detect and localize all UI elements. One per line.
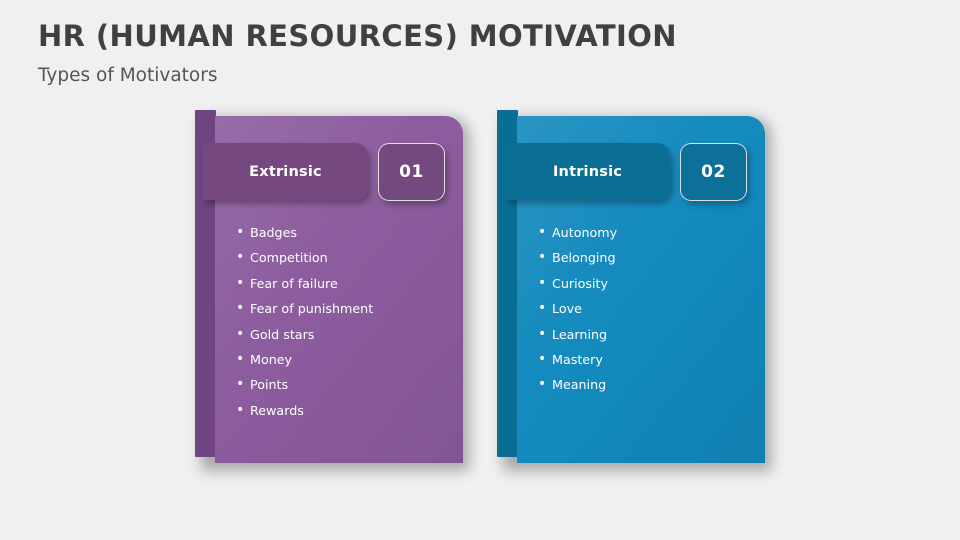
bullet-icon: • <box>236 247 250 268</box>
list-item: •Gold stars <box>236 324 436 349</box>
bullet-icon: • <box>236 273 250 294</box>
card-title-label: Extrinsic <box>249 164 322 180</box>
bullet-icon: • <box>538 222 552 243</box>
list-item-label: Mastery <box>552 349 603 370</box>
list-item-label: Love <box>552 298 582 319</box>
bullet-icon: • <box>236 374 250 395</box>
list-item-label: Rewards <box>250 400 304 421</box>
bullet-icon: • <box>236 349 250 370</box>
list-item-label: Points <box>250 374 288 395</box>
list-item-label: Fear of punishment <box>250 298 373 319</box>
list-item-label: Learning <box>552 324 607 345</box>
card-title-label: Intrinsic <box>553 164 622 180</box>
list-item: •Meaning <box>538 374 738 399</box>
bullet-icon: • <box>236 222 250 243</box>
list-item-label: Autonomy <box>552 222 617 243</box>
list-item: •Love <box>538 298 738 323</box>
list-item-label: Belonging <box>552 247 616 268</box>
list-item: •Learning <box>538 324 738 349</box>
list-item-label: Gold stars <box>250 324 314 345</box>
list-item: •Points <box>236 374 436 399</box>
card-extrinsic[interactable]: Extrinsic 01 •Badges•Competition•Fear of… <box>195 110 463 463</box>
bullet-icon: • <box>538 247 552 268</box>
list-item: •Curiosity <box>538 273 738 298</box>
bullet-icon: • <box>236 298 250 319</box>
list-item: •Fear of failure <box>236 273 436 298</box>
cards-area: Extrinsic 01 •Badges•Competition•Fear of… <box>0 0 960 540</box>
card-number-badge[interactable]: 02 <box>680 143 747 201</box>
bullet-icon: • <box>236 324 250 345</box>
list-item-label: Meaning <box>552 374 606 395</box>
bullet-icon: • <box>538 324 552 345</box>
list-item: •Competition <box>236 247 436 272</box>
bullet-icon: • <box>236 400 250 421</box>
list-item-label: Curiosity <box>552 273 608 294</box>
list-item: •Belonging <box>538 247 738 272</box>
card-titlebar[interactable]: Intrinsic <box>505 143 670 200</box>
card-item-list: •Badges•Competition•Fear of failure•Fear… <box>236 222 436 425</box>
list-item: •Autonomy <box>538 222 738 247</box>
bullet-icon: • <box>538 374 552 395</box>
list-item: •Badges <box>236 222 436 247</box>
card-item-list: •Autonomy•Belonging•Curiosity•Love•Learn… <box>538 222 738 400</box>
list-item: •Rewards <box>236 400 436 425</box>
list-item-label: Fear of failure <box>250 273 338 294</box>
list-item: •Money <box>236 349 436 374</box>
bullet-icon: • <box>538 349 552 370</box>
card-intrinsic[interactable]: Intrinsic 02 •Autonomy•Belonging•Curiosi… <box>497 110 765 463</box>
list-item-label: Money <box>250 349 292 370</box>
card-number-label: 01 <box>399 162 424 182</box>
card-titlebar[interactable]: Extrinsic <box>203 143 368 200</box>
card-number-label: 02 <box>701 162 726 182</box>
list-item-label: Badges <box>250 222 297 243</box>
list-item-label: Competition <box>250 247 328 268</box>
bullet-icon: • <box>538 298 552 319</box>
list-item: •Mastery <box>538 349 738 374</box>
card-number-badge[interactable]: 01 <box>378 143 445 201</box>
list-item: •Fear of punishment <box>236 298 436 323</box>
bullet-icon: • <box>538 273 552 294</box>
